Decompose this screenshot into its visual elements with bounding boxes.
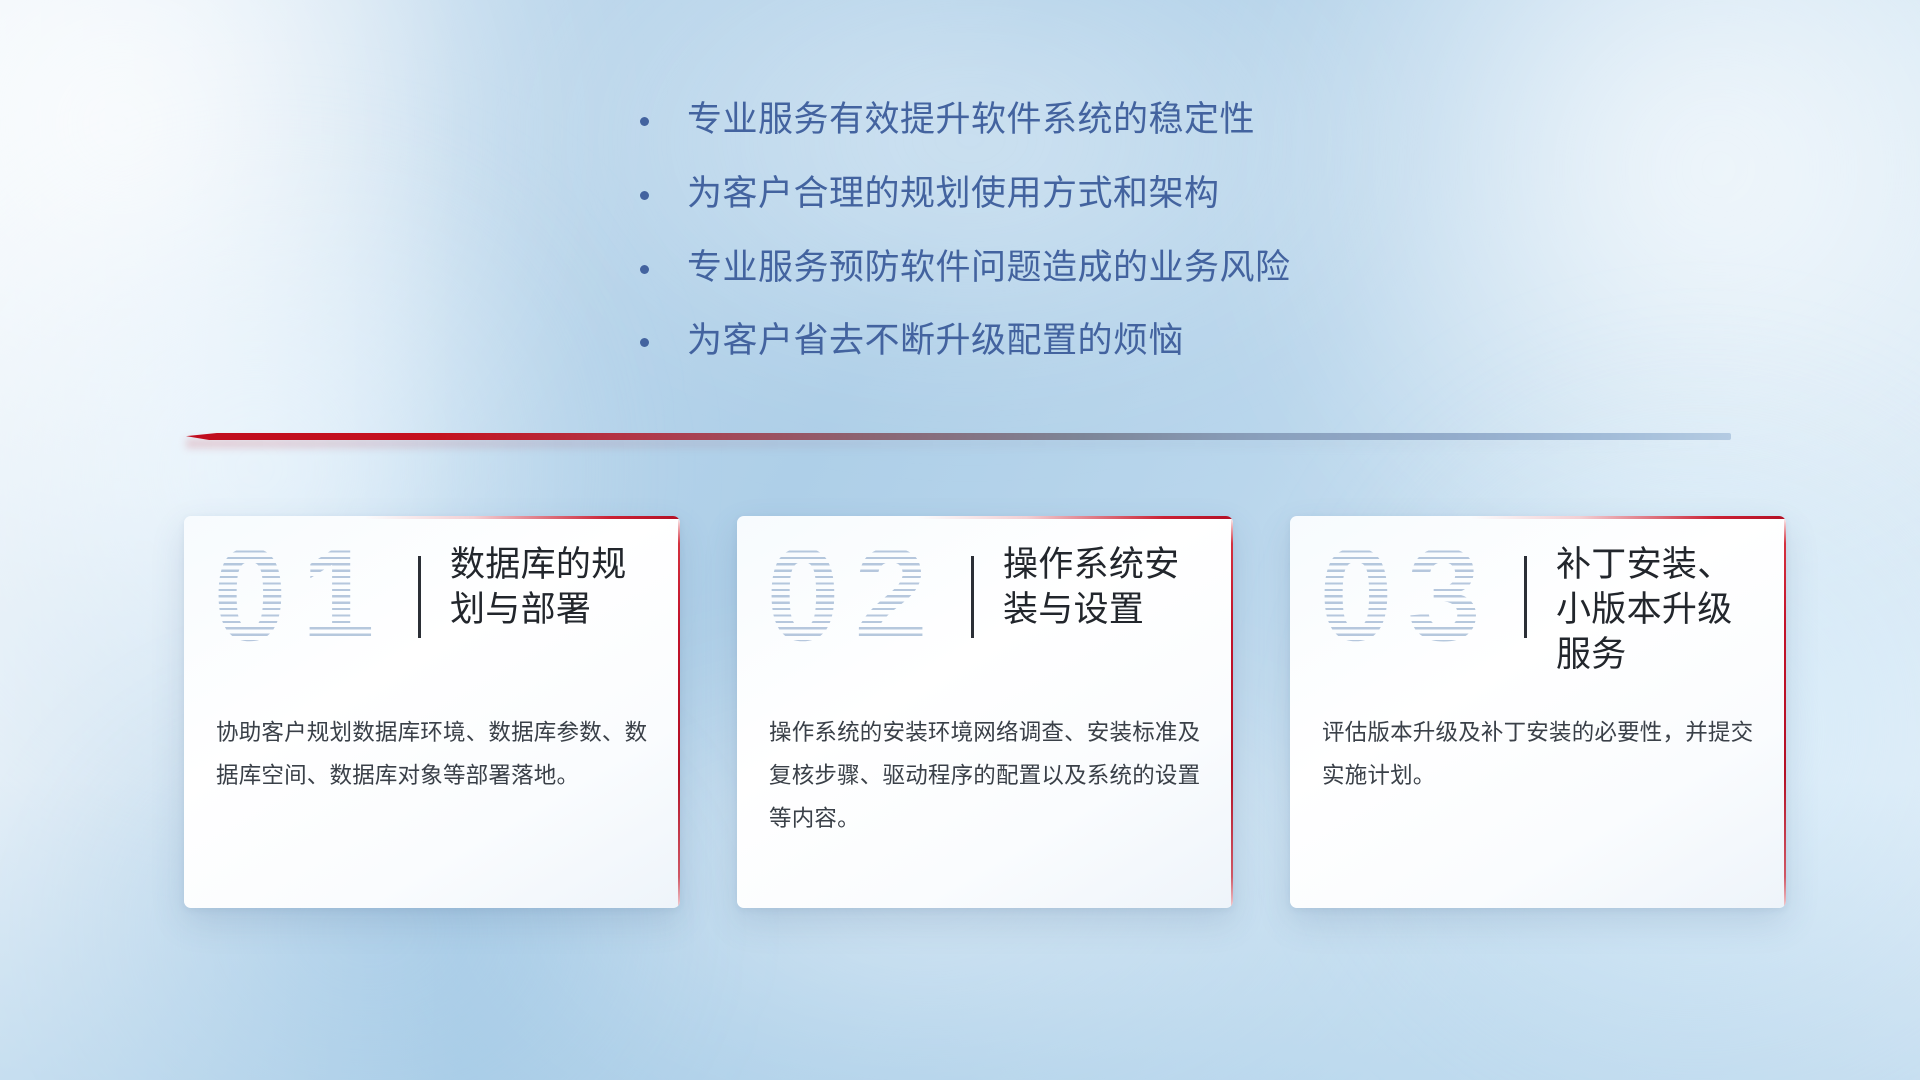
divider-glow xyxy=(186,439,1731,448)
card-body-text: 评估版本升级及补丁安装的必要性，并提交实施计划。 xyxy=(1322,711,1756,797)
bullet-dot-icon xyxy=(640,191,649,200)
card-title-rule xyxy=(418,556,421,638)
bullet-text: 专业服务预防软件问题造成的业务风险 xyxy=(687,246,1291,290)
card-header: 操作系统安装与设置 xyxy=(737,516,1233,676)
card-number-watermark xyxy=(214,544,390,652)
card-number-digit xyxy=(1320,544,1392,652)
card-title-rule xyxy=(971,556,974,638)
card-title: 数据库的规划与部署 xyxy=(450,543,656,633)
section-divider xyxy=(186,430,1731,444)
card-title: 补丁安装、小版本升级服务 xyxy=(1556,543,1762,677)
card-number-watermark xyxy=(1320,544,1496,652)
bullet-text: 专业服务有效提升软件系统的稳定性 xyxy=(687,98,1255,142)
list-item: 专业服务预防软件问题造成的业务风险 xyxy=(640,246,1291,290)
bullet-dot-icon xyxy=(640,338,649,347)
card-row: 数据库的规划与部署 协助客户规划数据库环境、数据库参数、数据库空间、数据库对象等… xyxy=(184,516,1786,908)
bullet-dot-icon xyxy=(640,117,649,126)
card-01[interactable]: 数据库的规划与部署 协助客户规划数据库环境、数据库参数、数据库空间、数据库对象等… xyxy=(184,516,680,908)
card-header: 补丁安装、小版本升级服务 xyxy=(1290,516,1786,676)
card-body-text: 操作系统的安装环境网络调查、安装标准及复核步骤、驱动程序的配置以及系统的设置等内… xyxy=(769,711,1203,841)
card-number-digit xyxy=(214,544,286,652)
bullet-text: 为客户合理的规划使用方式和架构 xyxy=(687,172,1220,216)
card-03[interactable]: 补丁安装、小版本升级服务 评估版本升级及补丁安装的必要性，并提交实施计划。 xyxy=(1290,516,1786,908)
card-number-digit xyxy=(1408,544,1480,652)
divider-bar xyxy=(186,433,1731,440)
list-item: 为客户省去不断升级配置的烦恼 xyxy=(640,319,1291,363)
card-number-digit xyxy=(855,544,927,652)
bullet-dot-icon xyxy=(640,265,649,274)
list-item: 专业服务有效提升软件系统的稳定性 xyxy=(640,98,1291,142)
list-item: 为客户合理的规划使用方式和架构 xyxy=(640,172,1291,216)
card-title-rule xyxy=(1524,556,1527,638)
card-number-watermark xyxy=(767,544,943,652)
card-02[interactable]: 操作系统安装与设置 操作系统的安装环境网络调查、安装标准及复核步骤、驱动程序的配… xyxy=(737,516,1233,908)
bullet-list: 专业服务有效提升软件系统的稳定性 为客户合理的规划使用方式和架构 专业服务预防软… xyxy=(640,98,1291,393)
card-title: 操作系统安装与设置 xyxy=(1003,543,1209,633)
card-number-digit xyxy=(302,544,374,652)
bullet-text: 为客户省去不断升级配置的烦恼 xyxy=(687,319,1184,363)
card-body-text: 协助客户规划数据库环境、数据库参数、数据库空间、数据库对象等部署落地。 xyxy=(216,711,650,797)
card-header: 数据库的规划与部署 xyxy=(184,516,680,676)
card-number-digit xyxy=(767,544,839,652)
